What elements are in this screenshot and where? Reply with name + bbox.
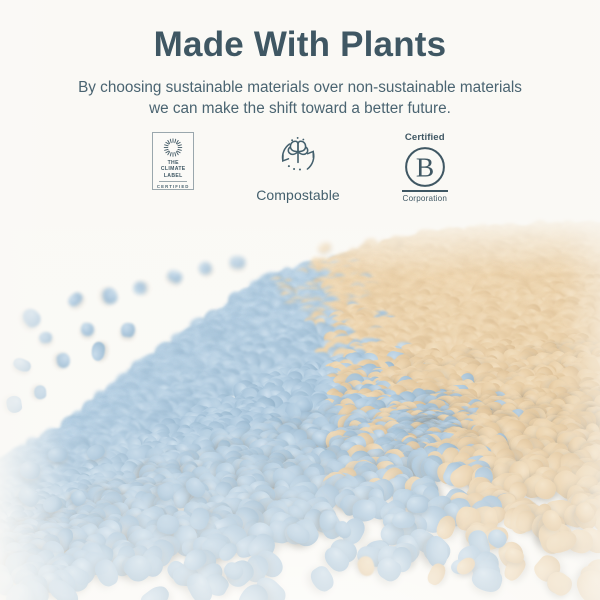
badge-b-corporation: Certified B Corporation <box>402 132 448 203</box>
page-subtitle: By choosing sustainable materials over n… <box>67 77 533 120</box>
compostable-label: Compostable <box>256 187 340 203</box>
bcorp-corporation-text: Corporation <box>403 194 448 203</box>
svg-text:B: B <box>416 152 434 183</box>
badge-climate-label: THE CLIMATE LABEL CERTIFIED <box>152 132 194 190</box>
climate-certified-text: CERTIFIED <box>157 184 190 189</box>
compostable-leaf-cycle-icon <box>271 132 325 182</box>
poster-canvas: Made With Plants By choosing sustainable… <box>0 0 600 600</box>
b-corp-icon: B <box>403 145 447 189</box>
page-title: Made With Plants <box>0 26 600 65</box>
climate-line-3: LABEL <box>161 173 186 180</box>
bcorp-certified-text: Certified <box>405 132 445 143</box>
climate-label-words: THE CLIMATE LABEL <box>161 160 186 180</box>
header-block: Made With Plants By choosing sustainable… <box>0 0 600 120</box>
bcorp-divider <box>402 190 448 192</box>
climate-label-box: THE CLIMATE LABEL CERTIFIED <box>152 132 194 190</box>
sunburst-icon <box>160 137 186 158</box>
climate-divider <box>159 181 187 182</box>
badge-compostable: Compostable <box>256 132 340 203</box>
certification-badges: THE CLIMATE LABEL CERTIFIED <box>0 132 600 203</box>
climate-line-2: CLIMATE <box>161 166 186 173</box>
